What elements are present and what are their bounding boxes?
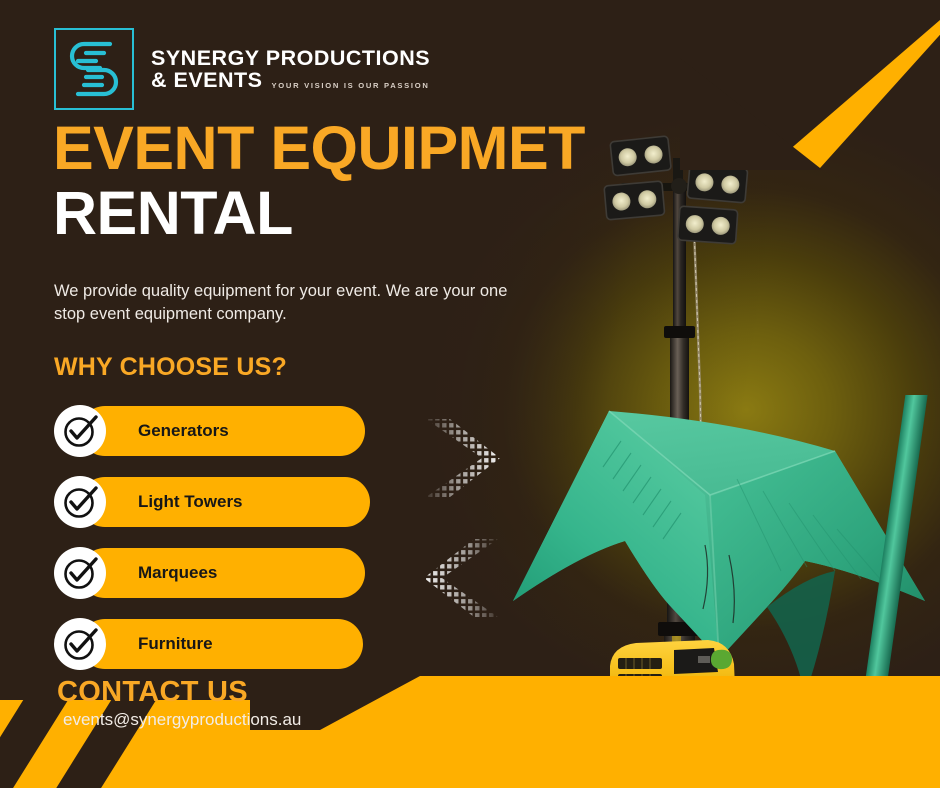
feature-label: Generators: [138, 421, 229, 441]
feature-label: Light Towers: [138, 492, 243, 512]
feature-item-marquees[interactable]: Marquees: [54, 548, 243, 598]
contact-email[interactable]: events@synergyproductions.au: [63, 710, 301, 730]
check-circle-icon: [54, 547, 106, 599]
light-tower-photo: [590, 128, 780, 708]
brand-name-line1: SYNERGY PRODUCTIONS: [151, 48, 430, 70]
why-choose-us-heading: WHY CHOOSE US?: [54, 353, 287, 382]
top-right-stripe-decoration: [680, 0, 940, 170]
halftone-chevron-right-icon: [420, 415, 506, 501]
feature-item-light-towers[interactable]: Light Towers: [54, 477, 243, 527]
headline-line2: RENTAL: [53, 182, 585, 244]
halftone-chevron-left-icon: [418, 535, 504, 621]
brand-name-line2: & EVENTS: [151, 70, 263, 92]
check-circle-icon: [54, 476, 106, 528]
feature-item-generators[interactable]: Generators: [54, 406, 243, 456]
feature-label: Furniture: [138, 634, 213, 654]
feature-item-furniture[interactable]: Furniture: [54, 619, 243, 669]
contact-us-heading: CONTACT US: [57, 676, 248, 709]
poster-canvas: SYNERGY PRODUCTIONS & EVENTS YOUR VISION…: [0, 0, 940, 788]
pill-background: [80, 548, 365, 598]
feature-list: Generators Light Towers Marquees: [54, 406, 243, 690]
brand-wordmark: SYNERGY PRODUCTIONS & EVENTS YOUR VISION…: [151, 46, 430, 92]
page-title: EVENT EQUIPMET RENTAL: [53, 119, 585, 244]
check-circle-icon: [54, 405, 106, 457]
intro-paragraph: We provide quality equipment for your ev…: [54, 280, 524, 326]
brand-logo[interactable]: SYNERGY PRODUCTIONS & EVENTS YOUR VISION…: [54, 28, 430, 110]
brand-tagline: YOUR VISION IS OUR PASSION: [272, 82, 430, 92]
pill-background: [80, 619, 363, 669]
headline-line1: EVENT EQUIPMET: [53, 119, 585, 179]
check-circle-icon: [54, 618, 106, 670]
feature-label: Marquees: [138, 563, 217, 583]
synergy-s-monogram-icon: [54, 28, 134, 110]
